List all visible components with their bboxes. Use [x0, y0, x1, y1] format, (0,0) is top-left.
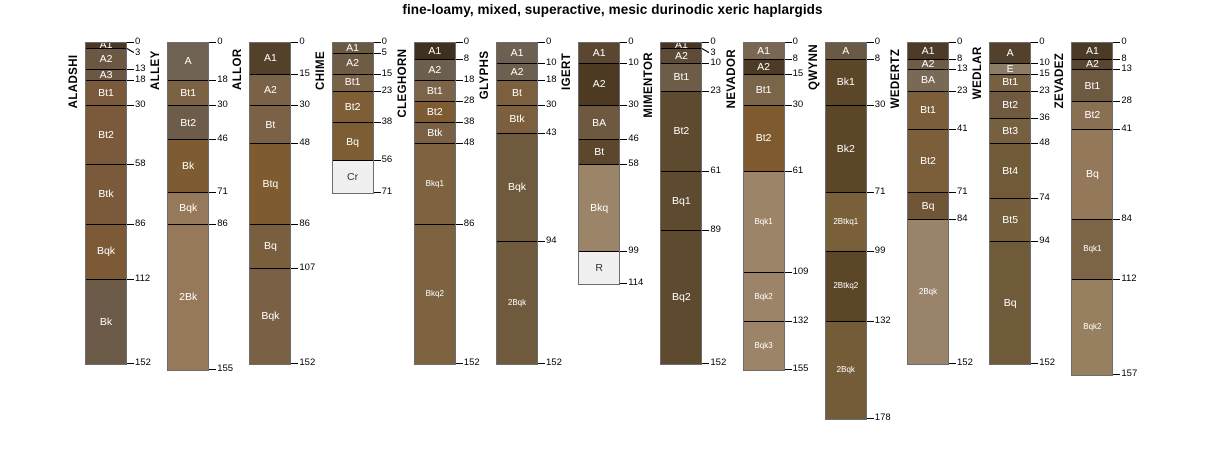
horizon-label: Bt5 — [1002, 215, 1018, 226]
depth-tick-line — [785, 42, 792, 43]
depth-tick-line — [456, 80, 463, 81]
depth-tick-label: 132 — [793, 316, 809, 326]
horizon-label: Bq — [1086, 169, 1099, 180]
horizon-label: Bt1 — [98, 88, 114, 99]
horizon-label: 2Bqk — [508, 299, 526, 307]
depth-tick-label: 46 — [628, 134, 639, 144]
depth-tick-line — [1113, 374, 1120, 375]
profile-name-label: ALADSHI — [68, 40, 80, 108]
horizon: Bt1 — [168, 81, 208, 106]
depth-tick-line — [867, 105, 874, 106]
depth-tick-label: 30 — [546, 100, 557, 110]
horizon: A1 — [908, 43, 948, 60]
horizon-label: Bkq — [590, 203, 608, 214]
horizon-label: A — [185, 56, 192, 67]
depth-tick-line — [127, 48, 135, 53]
horizon: BA — [908, 70, 948, 91]
depth-tick-label: 0 — [957, 37, 962, 47]
horizon-label: Bq — [346, 137, 359, 148]
depth-tick-label: 155 — [217, 364, 233, 374]
horizon-label: Bt2 — [1085, 110, 1101, 121]
depth-tick-label: 10 — [628, 58, 639, 68]
horizon: A2 — [744, 60, 784, 75]
depth-tick-label: 0 — [793, 37, 798, 47]
depth-tick-line — [949, 363, 956, 364]
horizon-stack: A1A2Bt1Bt2BtkBkq1Bkq2 — [414, 42, 456, 365]
horizon-label: A2 — [346, 58, 359, 69]
horizon: Bk — [86, 280, 126, 364]
horizon-label: Bt1 — [920, 105, 936, 116]
horizon-label: Bq2 — [672, 292, 691, 303]
horizon-label: A3 — [100, 70, 113, 80]
depth-tick-label: 10 — [1039, 58, 1050, 68]
horizon: 2Bqk — [908, 220, 948, 364]
depth-tick-line — [374, 192, 381, 193]
depth-tick-label: 152 — [464, 358, 480, 368]
depth-tick-line — [374, 53, 381, 54]
depth-tick-line — [374, 160, 381, 161]
depth-tick-line — [620, 164, 627, 165]
depth-tick-line — [127, 279, 134, 280]
horizon-label: Bt2 — [98, 130, 114, 141]
horizon-label: A1 — [922, 46, 935, 57]
depth-tick-line — [291, 363, 298, 364]
depth-tick-label: 28 — [1121, 96, 1132, 106]
horizon-stack: A1A2A3Bt1Bt2BtkBqkBk — [85, 42, 127, 365]
horizon: Bt — [579, 140, 619, 165]
depth-tick-line — [867, 59, 874, 60]
depth-tick-label: 38 — [464, 117, 475, 127]
depth-tick-label: 152 — [957, 358, 973, 368]
horizon: Bt2 — [86, 106, 126, 165]
profile-name-label: ZEVADEZ — [1054, 40, 1066, 108]
horizon: A — [826, 43, 866, 60]
horizon-label: Bt — [594, 147, 604, 158]
profile-name-label: GLYPHS — [479, 40, 491, 99]
depth-tick-label: 48 — [464, 138, 475, 148]
depth-tick-line — [949, 192, 956, 193]
horizon: Bt2 — [333, 92, 373, 124]
horizon: A2 — [86, 49, 126, 70]
depth-tick-label: 48 — [299, 138, 310, 148]
horizon-label: Bt2 — [1002, 100, 1018, 111]
depth-tick-line — [291, 105, 298, 106]
horizon: Bt4 — [990, 144, 1030, 199]
horizon-label: A1 — [757, 46, 770, 57]
depth-tick-label: 30 — [217, 100, 228, 110]
horizon: 2Bqk — [497, 242, 537, 364]
horizon-label: Bt2 — [180, 118, 196, 129]
horizon: A1 — [579, 43, 619, 64]
horizon-label: Bt1 — [345, 77, 361, 88]
depth-tick-label: 178 — [875, 413, 891, 423]
horizon: A2 — [579, 64, 619, 106]
horizon: 2Btkq2 — [826, 252, 866, 322]
depth-tick-line — [949, 219, 956, 220]
depth-tick-label: 0 — [464, 37, 469, 47]
depth-tick-line — [127, 69, 134, 70]
horizon-label: Bq — [922, 201, 935, 212]
horizon-label: Bqk — [261, 311, 279, 322]
depth-tick-line — [1031, 74, 1038, 75]
depth-tick-line — [702, 171, 709, 172]
horizon-label: A2 — [593, 79, 606, 90]
depth-tick-line — [209, 192, 216, 193]
depth-tick-line — [291, 143, 298, 144]
depth-tick-label: 18 — [546, 75, 557, 85]
depth-tick-label: 157 — [1121, 369, 1137, 379]
depth-tick-label: 8 — [1121, 54, 1126, 64]
depth-tick-label: 30 — [628, 100, 639, 110]
depth-tick-label: 112 — [1121, 274, 1136, 284]
depth-tick-line — [620, 63, 627, 64]
depth-tick-label: 86 — [464, 219, 475, 229]
depth-tick-label: 43 — [546, 128, 557, 138]
depth-tick-label: 99 — [628, 246, 639, 256]
depth-tick-line — [127, 80, 134, 81]
horizon-label: A1 — [511, 48, 524, 59]
horizon-label: Bqk2 — [1083, 323, 1101, 331]
horizon-label: A1 — [428, 46, 441, 57]
horizon-label: Bt2 — [920, 156, 936, 167]
horizon: Bqk — [86, 225, 126, 280]
depth-tick-label: 30 — [875, 100, 886, 110]
depth-tick-label: 0 — [875, 37, 880, 47]
depth-tick-line — [538, 133, 545, 134]
horizon-label: R — [595, 263, 603, 274]
depth-tick-line — [620, 139, 627, 140]
depth-tick-line — [1113, 101, 1120, 102]
depth-tick-label: 46 — [217, 134, 228, 144]
depth-tick-line — [1113, 59, 1120, 60]
horizon-label: A2 — [428, 65, 441, 76]
depth-tick-line — [949, 59, 956, 60]
depth-tick-line — [374, 42, 381, 43]
depth-tick-label: 71 — [217, 187, 228, 197]
horizon: Bt2 — [908, 130, 948, 193]
horizon-stack: ABk1Bk22Btkq12Btkq22Bqk — [825, 42, 867, 420]
depth-tick-line — [1031, 118, 1038, 119]
depth-tick-label: 3 — [710, 48, 715, 58]
profile-name-label: QWYNN — [808, 40, 820, 90]
horizon-label: Bt1 — [674, 72, 690, 83]
horizon-stack: A1A2Bt1Bt2Bq1Bq2 — [660, 42, 702, 365]
horizon-label: Bk2 — [837, 144, 855, 155]
depth-tick-line — [620, 283, 627, 284]
depth-tick-label: 13 — [957, 64, 968, 74]
depth-tick-line — [949, 69, 956, 70]
horizon-label: A2 — [757, 62, 770, 73]
depth-tick-label: 30 — [135, 100, 146, 110]
horizon: A3 — [86, 70, 126, 81]
horizon-label: BA — [592, 118, 606, 129]
horizon-label: Bt1 — [427, 86, 443, 97]
depth-tick-label: 18 — [217, 75, 228, 85]
depth-tick-label: 58 — [628, 159, 639, 169]
horizon: E — [990, 64, 1030, 75]
depth-tick-label: 0 — [299, 37, 304, 47]
horizon: 2Bk — [168, 225, 208, 371]
depth-tick-label: 23 — [710, 86, 721, 96]
horizon-stack: A1A2BtBtkBqk2Bqk — [496, 42, 538, 365]
depth-tick-line — [374, 122, 381, 123]
depth-tick-label: 36 — [1039, 113, 1050, 123]
horizon-label: A2 — [264, 85, 277, 96]
depth-tick-label: 99 — [875, 246, 886, 256]
horizon: Bqk1 — [744, 172, 784, 273]
horizon-stack: A1A2Bt1Bt2Bqk1Bqk2Bqk3 — [743, 42, 785, 371]
depth-tick-label: 0 — [135, 37, 140, 47]
horizon: Bk1 — [826, 60, 866, 106]
depth-tick-line — [1113, 129, 1120, 130]
horizon-stack: A1A2BtBtqBqBqk — [249, 42, 291, 365]
depth-tick-line — [538, 42, 545, 43]
depth-tick-label: 41 — [957, 124, 968, 134]
depth-tick-line — [867, 321, 874, 322]
horizon: Bq2 — [661, 231, 701, 364]
depth-tick-label: 61 — [710, 166, 721, 176]
depth-tick-label: 41 — [1121, 124, 1132, 134]
horizon-label: Btk — [509, 114, 524, 125]
depth-tick-line — [456, 143, 463, 144]
horizon-label: Bk1 — [837, 77, 855, 88]
depth-tick-line — [867, 251, 874, 252]
depth-tick-label: 0 — [1121, 37, 1126, 47]
depth-tick-label: 13 — [135, 64, 146, 74]
depth-tick-label: 61 — [793, 166, 804, 176]
horizon: Bt1 — [908, 92, 948, 130]
horizon: Bt1 — [744, 75, 784, 107]
depth-tick-label: 30 — [299, 100, 310, 110]
profile-name-label: WEDERTZ — [890, 40, 902, 108]
horizon: A1 — [333, 43, 373, 54]
depth-tick-label: 3 — [135, 48, 140, 58]
horizon: A1 — [1072, 43, 1112, 60]
depth-tick-label: 84 — [1121, 214, 1132, 224]
horizon-label: Btk — [98, 189, 113, 200]
horizon-label: A1 — [264, 53, 277, 64]
horizon-label: A1 — [1086, 46, 1099, 57]
horizon: Bkq1 — [415, 144, 455, 224]
depth-tick-label: 152 — [710, 358, 726, 368]
depth-tick-label: 94 — [1039, 236, 1050, 246]
horizon: Bt1 — [990, 75, 1030, 92]
horizon-label: A1 — [593, 48, 606, 59]
horizon: A1 — [250, 43, 290, 75]
depth-tick-line — [867, 192, 874, 193]
horizon: Bt2 — [661, 92, 701, 172]
horizon: Bkq — [579, 165, 619, 252]
depth-tick-label: 94 — [546, 236, 557, 246]
depth-tick-line — [702, 91, 709, 92]
depth-tick-line — [785, 369, 792, 370]
depth-tick-line — [127, 164, 134, 165]
profile-name-label: ALLEY — [150, 40, 162, 90]
horizon: A2 — [497, 64, 537, 81]
horizon: A1 — [415, 43, 455, 60]
horizon: Bt1 — [415, 81, 455, 102]
horizon: Bq — [333, 123, 373, 161]
depth-tick-label: 84 — [957, 214, 968, 224]
depth-tick-line — [702, 63, 709, 64]
depth-tick-label: 71 — [875, 187, 886, 197]
depth-tick-line — [209, 80, 216, 81]
horizon-label: Cr — [347, 172, 358, 183]
depth-tick-label: 15 — [793, 69, 804, 79]
horizon: Cr — [333, 161, 373, 193]
depth-tick-line — [209, 224, 216, 225]
horizon: Bqk3 — [744, 322, 784, 371]
horizon-label: A2 — [675, 51, 688, 62]
horizon: A2 — [333, 54, 373, 75]
horizon-label: Bqk3 — [754, 342, 772, 350]
depth-tick-line — [1031, 241, 1038, 242]
depth-tick-line — [127, 363, 134, 364]
horizon-label: A2 — [1086, 60, 1099, 70]
horizon-label: Bq — [264, 241, 277, 252]
depth-tick-label: 132 — [875, 316, 891, 326]
horizon-label: Bt2 — [427, 107, 443, 118]
depth-tick-label: 28 — [464, 96, 475, 106]
horizon: Bt — [497, 81, 537, 106]
horizon: Btk — [86, 165, 126, 224]
depth-tick-label: 56 — [382, 155, 393, 165]
depth-tick-label: 152 — [299, 358, 315, 368]
horizon: Bt3 — [990, 119, 1030, 144]
horizon-label: Bqk1 — [754, 218, 772, 226]
depth-tick-line — [867, 42, 874, 43]
horizon: 2Bqk — [826, 322, 866, 419]
horizon-label: Bt1 — [1002, 77, 1018, 88]
horizon-stack: A1A2Bt1Bt2BqCr — [332, 42, 374, 194]
horizon-label: Bkq2 — [426, 290, 444, 298]
depth-tick-label: 0 — [217, 37, 222, 47]
horizon: R — [579, 252, 619, 284]
depth-tick-line — [702, 230, 709, 231]
depth-tick-label: 86 — [299, 219, 310, 229]
horizon: Bqk2 — [1072, 280, 1112, 375]
depth-tick-line — [1113, 69, 1120, 70]
horizon: Btk — [415, 123, 455, 144]
depth-tick-label: 23 — [1039, 86, 1050, 96]
horizon: Bk — [168, 140, 208, 193]
depth-tick-line — [374, 74, 381, 75]
horizon-stack: A1A2Bt1Bt2BqBqk1Bqk2 — [1071, 42, 1113, 376]
depth-tick-line — [1031, 63, 1038, 64]
depth-tick-label: 152 — [135, 358, 151, 368]
horizon-label: Bt2 — [756, 133, 772, 144]
horizon-label: Bqk1 — [1083, 245, 1101, 253]
depth-tick-label: 48 — [1039, 138, 1050, 148]
depth-tick-line — [291, 42, 298, 43]
horizon-label: A1 — [346, 43, 359, 53]
horizon: Bqk — [168, 193, 208, 225]
depth-tick-label: 8 — [875, 54, 880, 64]
depth-tick-label: 109 — [793, 267, 809, 277]
depth-tick-line — [538, 80, 545, 81]
horizon-label: Bt1 — [756, 85, 772, 96]
horizon: Bt5 — [990, 199, 1030, 241]
depth-tick-line — [867, 418, 874, 419]
horizon: Bkq2 — [415, 225, 455, 364]
horizon-label: Bk — [100, 317, 112, 328]
depth-tick-label: 8 — [793, 54, 798, 64]
depth-tick-line — [456, 224, 463, 225]
depth-tick-line — [1031, 91, 1038, 92]
depth-tick-line — [1031, 363, 1038, 364]
horizon-label: Bqk — [508, 182, 526, 193]
depth-tick-line — [538, 105, 545, 106]
depth-tick-label: 155 — [793, 364, 809, 374]
depth-tick-label: 38 — [382, 117, 393, 127]
depth-tick-line — [1031, 143, 1038, 144]
depth-tick-label: 15 — [299, 69, 310, 79]
horizon: Bt2 — [744, 106, 784, 171]
horizon-label: Bt4 — [1002, 166, 1018, 177]
horizon: Bqk1 — [1072, 220, 1112, 279]
depth-tick-line — [291, 74, 298, 75]
horizon: A1 — [744, 43, 784, 60]
depth-tick-line — [785, 171, 792, 172]
horizon: A2 — [661, 49, 701, 64]
horizon-label: Bq — [1004, 298, 1017, 309]
profile-name-label: WEDLAR — [972, 40, 984, 99]
depth-tick-line — [785, 272, 792, 273]
horizon: Bqk — [250, 269, 290, 364]
depth-tick-line — [291, 224, 298, 225]
horizon-label: Bt — [265, 120, 275, 131]
horizon-label: Bt1 — [180, 88, 196, 99]
horizon-label: Bt1 — [1085, 81, 1101, 92]
depth-tick-line — [620, 42, 627, 43]
depth-tick-line — [1031, 42, 1038, 43]
depth-tick-label: 30 — [793, 100, 804, 110]
depth-tick-line — [209, 105, 216, 106]
depth-tick-line — [291, 268, 298, 269]
depth-tick-line — [456, 122, 463, 123]
horizon-label: Bqk — [97, 246, 115, 257]
depth-tick-label: 0 — [710, 37, 715, 47]
depth-tick-line — [127, 42, 134, 43]
depth-tick-line — [785, 105, 792, 106]
horizon-label: Bt2 — [674, 126, 690, 137]
depth-tick-line — [949, 42, 956, 43]
horizon: A2 — [908, 60, 948, 71]
horizon: Bq — [908, 193, 948, 220]
horizon-stack: AEBt1Bt2Bt3Bt4Bt5Bq — [989, 42, 1031, 365]
horizon-label: Bt3 — [1002, 126, 1018, 137]
horizon-label: 2Bqk — [837, 366, 855, 374]
horizon: Bqk2 — [744, 273, 784, 322]
depth-tick-label: 0 — [546, 37, 551, 47]
profile-name-label: MIMENTOR — [643, 40, 655, 118]
depth-tick-line — [1113, 42, 1120, 43]
horizon-label: Bt — [512, 88, 522, 99]
horizon-label: A — [1007, 48, 1014, 59]
horizon: Bq — [250, 225, 290, 269]
depth-tick-label: 18 — [464, 75, 475, 85]
depth-tick-line — [949, 129, 956, 130]
horizon-label: BA — [921, 75, 935, 86]
soil-profile-plot: ALADSHIA1A2A3Bt1Bt2BtkBqkBk0313183058861… — [0, 0, 1225, 450]
depth-tick-label: 8 — [464, 54, 469, 64]
depth-tick-line — [702, 42, 709, 43]
depth-tick-line — [456, 101, 463, 102]
depth-tick-label: 13 — [1121, 64, 1132, 74]
depth-tick-line — [456, 42, 463, 43]
horizon: Bt1 — [1072, 70, 1112, 102]
horizon-label: 2Btkq2 — [833, 282, 858, 290]
